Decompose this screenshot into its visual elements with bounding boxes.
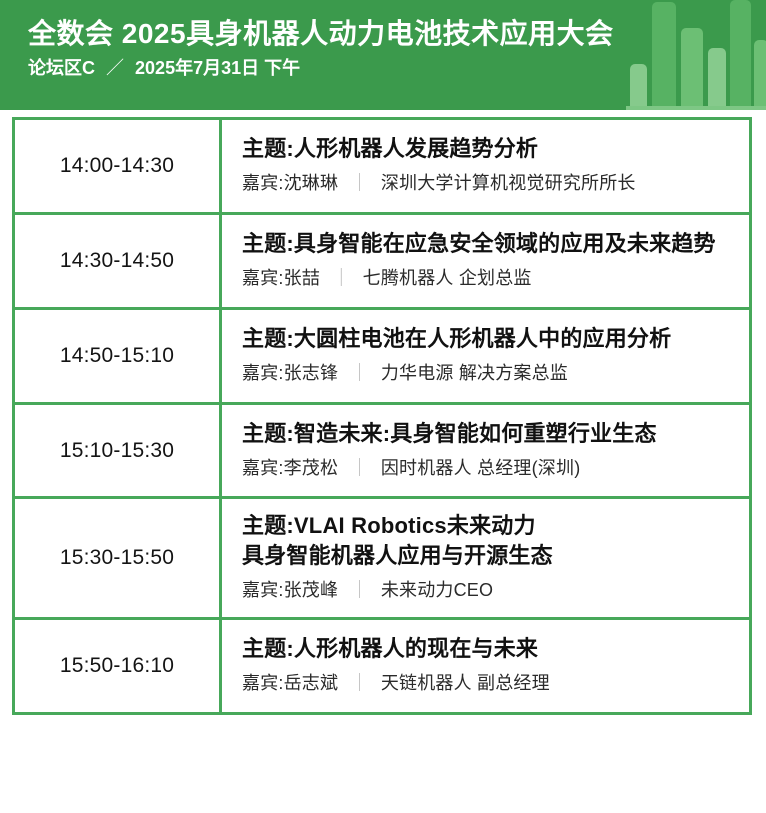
session-guest: 嘉宾:张茂峰 ｜ 未来动力CEO: [242, 579, 733, 602]
session-guest: 嘉宾:岳志斌 ｜ 天链机器人 副总经理: [242, 672, 733, 695]
skyline-decoration: [626, 0, 766, 110]
session-topic: 主题:大圆柱电池在人形机器人中的应用分析: [242, 324, 733, 353]
venue-label: 论坛区C: [28, 58, 95, 78]
guest-divider: ｜: [350, 362, 368, 385]
table-row: 14:50-15:10 主题:大圆柱电池在人形机器人中的应用分析 嘉宾:张志锋 …: [15, 308, 749, 403]
guest-name: 嘉宾:张茂峰: [242, 580, 338, 600]
session-time: 15:10-15:30: [15, 403, 221, 498]
session-time: 15:30-15:50: [15, 498, 221, 618]
subtitle-separator: ／: [106, 58, 124, 80]
session-topic-line1: 主题:人形机器人发展趋势分析: [242, 136, 538, 161]
agenda-table-wrapper: 14:00-14:30 主题:人形机器人发展趋势分析 嘉宾:沈琳琳 ｜ 深圳大学…: [12, 117, 752, 715]
session-time: 14:00-14:30: [15, 120, 221, 213]
session-topic-line2: 具身智能机器人应用与开源生态: [242, 541, 733, 570]
guest-name: 嘉宾:张喆: [242, 268, 320, 288]
guest-affiliation: 未来动力CEO: [381, 580, 493, 600]
header-banner: 全数会 2025具身机器人动力电池技术应用大会 论坛区C ／ 2025年7月31…: [0, 0, 766, 110]
guest-divider: ｜: [350, 172, 368, 195]
session-topic-line1: 主题:大圆柱电池在人形机器人中的应用分析: [242, 326, 671, 351]
session-guest: 嘉宾:李茂松 ｜ 因时机器人 总经理(深圳): [242, 457, 733, 480]
guest-divider: ｜: [350, 457, 368, 480]
session-topic: 主题:智造未来:具身智能如何重塑行业生态: [242, 419, 733, 448]
session-detail: 主题:VLAI Robotics未来动力 具身智能机器人应用与开源生态 嘉宾:张…: [221, 498, 750, 618]
skyline-baseline: [626, 106, 766, 110]
guest-name: 嘉宾:岳志斌: [242, 673, 338, 693]
skyline-bar-3: [681, 28, 703, 110]
guest-affiliation: 因时机器人 总经理(深圳): [381, 458, 581, 478]
session-detail: 主题:人形机器人发展趋势分析 嘉宾:沈琳琳 ｜ 深圳大学计算机视觉研究所所长: [221, 120, 750, 213]
guest-divider: ｜: [332, 267, 350, 290]
page-title: 全数会 2025具身机器人动力电池技术应用大会: [28, 18, 614, 50]
skyline-bar-1: [630, 64, 647, 110]
table-row: 15:30-15:50 主题:VLAI Robotics未来动力 具身智能机器人…: [15, 498, 749, 618]
guest-name: 嘉宾:李茂松: [242, 458, 338, 478]
banner-text-block: 全数会 2025具身机器人动力电池技术应用大会 论坛区C ／ 2025年7月31…: [28, 18, 614, 80]
session-topic: 主题:VLAI Robotics未来动力 具身智能机器人应用与开源生态: [242, 511, 733, 570]
session-topic: 主题:具身智能在应急安全领域的应用及未来趋势: [242, 229, 733, 258]
guest-affiliation: 深圳大学计算机视觉研究所所长: [381, 173, 636, 193]
session-topic: 主题:人形机器人的现在与未来: [242, 634, 733, 663]
table-row: 14:00-14:30 主题:人形机器人发展趋势分析 嘉宾:沈琳琳 ｜ 深圳大学…: [15, 120, 749, 213]
skyline-bar-2: [652, 2, 676, 110]
table-row: 15:10-15:30 主题:智造未来:具身智能如何重塑行业生态 嘉宾:李茂松 …: [15, 403, 749, 498]
table-row: 15:50-16:10 主题:人形机器人的现在与未来 嘉宾:岳志斌 ｜ 天链机器…: [15, 618, 749, 711]
guest-affiliation: 力华电源 解决方案总监: [381, 363, 568, 383]
guest-name: 嘉宾:张志锋: [242, 363, 338, 383]
session-detail: 主题:人形机器人的现在与未来 嘉宾:岳志斌 ｜ 天链机器人 副总经理: [221, 618, 750, 711]
session-detail: 主题:具身智能在应急安全领域的应用及未来趋势 嘉宾:张喆 ｜ 七腾机器人 企划总…: [221, 213, 750, 308]
banner-subtitle: 论坛区C ／ 2025年7月31日 下午: [28, 58, 614, 80]
session-guest: 嘉宾:张志锋 ｜ 力华电源 解决方案总监: [242, 362, 733, 385]
guest-affiliation: 天链机器人 副总经理: [381, 673, 550, 693]
session-topic-line1: 主题:人形机器人的现在与未来: [242, 636, 538, 661]
session-guest: 嘉宾:沈琳琳 ｜ 深圳大学计算机视觉研究所所长: [242, 172, 733, 195]
agenda-table: 14:00-14:30 主题:人形机器人发展趋势分析 嘉宾:沈琳琳 ｜ 深圳大学…: [15, 120, 749, 712]
table-row: 14:30-14:50 主题:具身智能在应急安全领域的应用及未来趋势 嘉宾:张喆…: [15, 213, 749, 308]
skyline-bar-4: [708, 48, 726, 110]
skyline-bar-5: [730, 0, 751, 110]
skyline-bar-6: [754, 40, 766, 110]
session-detail: 主题:智造未来:具身智能如何重塑行业生态 嘉宾:李茂松 ｜ 因时机器人 总经理(…: [221, 403, 750, 498]
session-guest: 嘉宾:张喆 ｜ 七腾机器人 企划总监: [242, 267, 733, 290]
session-topic-line1: 主题:智造未来:具身智能如何重塑行业生态: [242, 421, 657, 446]
session-topic-line1: 主题:具身智能在应急安全领域的应用及未来趋势: [242, 231, 716, 256]
session-time: 14:50-15:10: [15, 308, 221, 403]
guest-name: 嘉宾:沈琳琳: [242, 173, 338, 193]
guest-affiliation: 七腾机器人 企划总监: [363, 268, 532, 288]
session-time: 15:50-16:10: [15, 618, 221, 711]
session-topic-line1: 主题:VLAI Robotics未来动力: [242, 513, 536, 538]
guest-divider: ｜: [350, 579, 368, 602]
date-label: 2025年7月31日 下午: [135, 58, 300, 78]
session-topic: 主题:人形机器人发展趋势分析: [242, 134, 733, 163]
session-detail: 主题:大圆柱电池在人形机器人中的应用分析 嘉宾:张志锋 ｜ 力华电源 解决方案总…: [221, 308, 750, 403]
session-time: 14:30-14:50: [15, 213, 221, 308]
guest-divider: ｜: [350, 672, 368, 695]
